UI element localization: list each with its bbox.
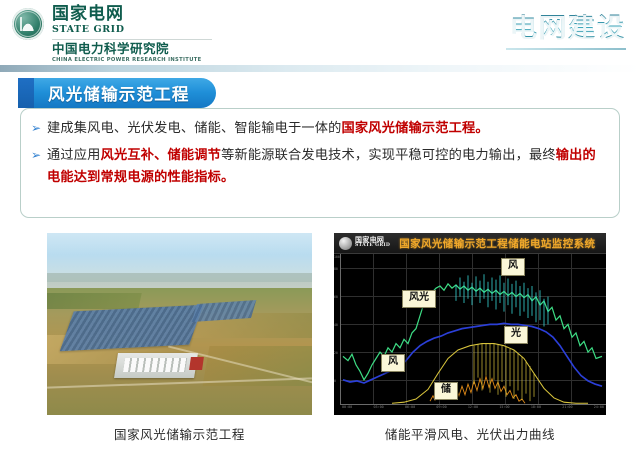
monitor-logo-en: STATE GRID xyxy=(355,244,390,249)
bullet-segment: 通过应用 xyxy=(47,148,101,163)
bullet-segment: 。 xyxy=(475,121,488,136)
series-solar-spikes xyxy=(474,344,534,402)
header-gradient-band xyxy=(0,65,640,72)
series-wind-spikes xyxy=(456,274,548,326)
figure-caption-right: 储能平滑风电、光伏出力曲线 xyxy=(334,424,606,443)
bullet-segment: 等新能源联合发电技术，实现平稳可控的电力输出，最终 xyxy=(221,148,556,163)
substation-buildings xyxy=(114,353,198,378)
solar-panel-array xyxy=(60,304,204,351)
figure-aerial-photo xyxy=(47,233,312,415)
bullet-segment: 建成集风电、光伏发电、储能、智能输电于一体的 xyxy=(47,121,342,136)
slide-title: 电网建设 xyxy=(510,14,626,44)
state-grid-emblem-icon xyxy=(12,8,44,40)
bullet-item: ➢ 通过应用风光互补、储能调节等新能源联合发电技术，实现平稳可控的电力输出，最终… xyxy=(31,145,607,188)
bullet-segment: 。 xyxy=(221,170,234,185)
callout-wind-solar: 风光 xyxy=(402,290,436,308)
x-tick-labels: 00:00 03:00 06:00 09:00 12:00 15:00 18:0… xyxy=(340,405,606,415)
monitor-logo: 国家电网 STATE GRID xyxy=(339,237,390,250)
callout-wind: 风 xyxy=(501,258,525,276)
bullet-segment-highlight: 国家风光储输示范工程 xyxy=(342,121,476,136)
bullet-item: ➢ 建成集风电、光伏发电、储能、智能输电于一体的国家风光储输示范工程。 xyxy=(31,118,607,139)
org-name-en: STATE GRID xyxy=(52,24,212,36)
institute-name-cn: 中国电力科学研究院 xyxy=(52,42,212,56)
brand-logo: 国家电网 STATE GRID 中国电力科学研究院 CHINA ELECTRIC… xyxy=(12,6,212,64)
bullet-arrow-icon: ➢ xyxy=(31,145,47,165)
section-accent-square xyxy=(18,78,34,108)
bullet-segment-highlight: 风光互补、储能调节 xyxy=(101,148,222,163)
slide-header: 国家电网 STATE GRID 中国电力科学研究院 CHINA ELECTRIC… xyxy=(0,0,640,65)
bullet-arrow-icon: ➢ xyxy=(31,118,47,138)
monitor-titlebar: 国家电网 STATE GRID 国家风光储输示范工程储能电站监控系统 xyxy=(334,233,606,254)
curve-paths xyxy=(334,254,606,415)
figure-monitoring-screenshot: 国家电网 STATE GRID 国家风光储输示范工程储能电站监控系统 0 20 … xyxy=(334,233,606,415)
logo-divider xyxy=(52,39,212,40)
figure-caption-left: 国家风光储输示范工程 xyxy=(47,424,312,443)
bullet-text: 通过应用风光互补、储能调节等新能源联合发电技术，实现平稳可控的电力输出，最终输出… xyxy=(47,145,607,188)
output-curve-plot: 0 20 40 60 80 100 xyxy=(334,254,606,415)
callout-solar: 光 xyxy=(504,326,528,344)
section-title: 风光储输示范工程 xyxy=(34,78,216,108)
institute-name-en: CHINA ELECTRIC POWER RESEARCH INSTITUTE xyxy=(52,57,212,64)
org-name-cn: 国家电网 xyxy=(52,6,212,24)
bullet-text: 建成集风电、光伏发电、储能、智能输电于一体的国家风光储输示范工程。 xyxy=(47,118,489,139)
content-box: ➢ 建成集风电、光伏发电、储能、智能输电于一体的国家风光储输示范工程。 ➢ 通过… xyxy=(20,108,620,218)
callout-wind-blue: 风 xyxy=(381,354,405,372)
slide-title-underline xyxy=(506,48,626,50)
callout-storage: 储 xyxy=(434,382,458,400)
aerial-photo-image xyxy=(47,233,312,415)
section-header: 风光储输示范工程 xyxy=(18,78,216,108)
state-grid-emblem-icon xyxy=(339,237,352,250)
monitor-title: 国家风光储输示范工程储能电站监控系统 xyxy=(399,236,595,251)
